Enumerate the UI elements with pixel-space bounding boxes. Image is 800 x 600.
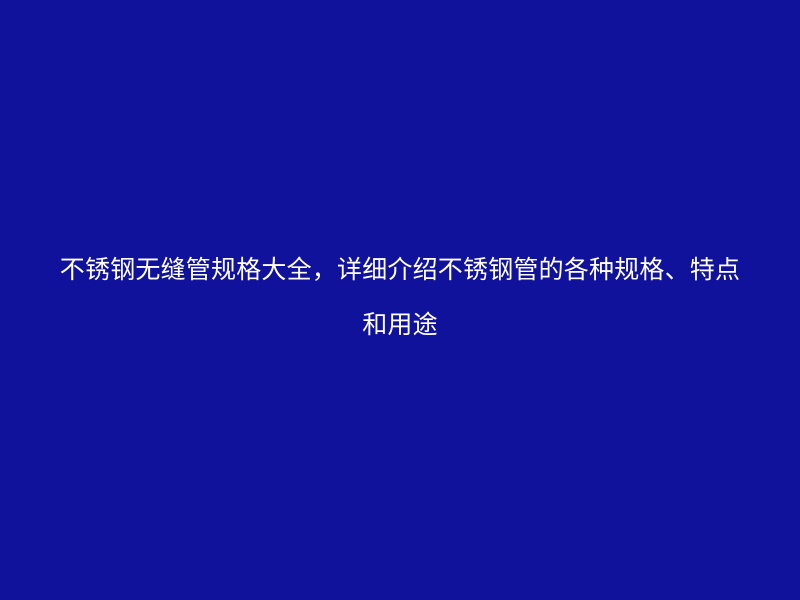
headline-block: 不锈钢无缝管规格大全，详细介绍不锈钢管的各种规格、特点和用途 bbox=[50, 242, 750, 352]
page-title: 不锈钢无缝管规格大全，详细介绍不锈钢管的各种规格、特点和用途 bbox=[50, 242, 750, 352]
title-card: 不锈钢无缝管规格大全，详细介绍不锈钢管的各种规格、特点和用途 bbox=[0, 0, 800, 600]
